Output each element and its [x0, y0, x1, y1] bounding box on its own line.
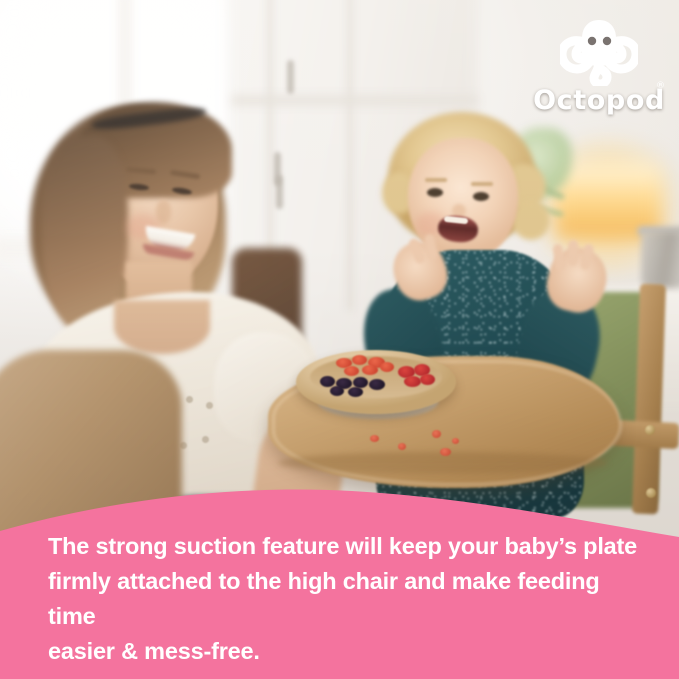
baby-eye: [427, 188, 443, 197]
food-crumb: [452, 438, 459, 444]
food-crumb: [370, 435, 379, 442]
brand-logo: Octopod ®: [524, 18, 674, 118]
baby-eyebrow: [425, 178, 447, 182]
promo-banner: The strong suction feature will keep you…: [0, 489, 679, 679]
food-strawberry: [380, 362, 394, 372]
eyelet-detail: [202, 436, 209, 443]
eyelet-detail: [206, 402, 213, 409]
product-lifestyle-image: The strong suction feature will keep you…: [0, 0, 679, 679]
cabinet-handle: [287, 60, 294, 94]
banner-line-3: easier & mess-free.: [48, 634, 648, 669]
food-strawberry: [352, 355, 367, 365]
brand-wordmark: Octopod: [524, 86, 674, 116]
food-blueberry: [330, 386, 344, 396]
food-crumb: [432, 430, 441, 438]
banner-line-1: The strong suction feature will keep you…: [48, 529, 648, 564]
food-crumb: [398, 443, 406, 450]
food-berry: [420, 374, 435, 385]
food-strawberry: [344, 366, 359, 376]
high-chair-screw: [645, 425, 655, 435]
registered-trademark-mark: ®: [656, 82, 665, 91]
cabinet-seam: [348, 0, 352, 310]
food-blueberry: [369, 379, 385, 390]
banner-message: The strong suction feature will keep you…: [48, 529, 648, 669]
baby-finger: [568, 240, 579, 266]
food-crumb: [440, 448, 451, 456]
banner-line-2: firmly attached to the high chair and ma…: [48, 564, 648, 634]
food-berry: [404, 376, 421, 387]
eyelet-detail: [186, 396, 193, 403]
food-strawberry: [362, 365, 378, 375]
baby-eyebrow: [471, 182, 493, 186]
metal-pot: [641, 232, 679, 288]
food-blueberry: [348, 387, 363, 397]
octopus-logo-icon: [560, 18, 638, 86]
food-blueberry: [320, 376, 335, 387]
mother-neckline: [114, 300, 210, 354]
baby-eye: [473, 192, 489, 201]
